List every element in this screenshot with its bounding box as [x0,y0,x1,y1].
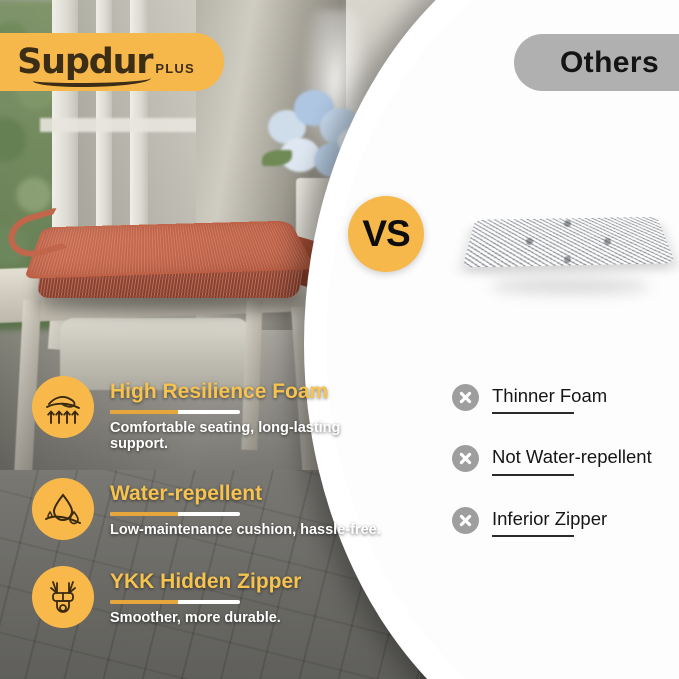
zipper-icon [32,566,94,628]
con-item-inferior-zipper: Inferior Zipper [452,507,676,537]
brand-wordmark: Supdur PLUS [17,45,195,80]
feature-item-high-resilience-foam: High Resilience Foam Comfortable seating… [32,376,382,452]
feature-title: Water-repellent [110,482,381,505]
brand-suffix: PLUS [155,61,194,80]
feature-item-ykk-hidden-zipper: YKK Hidden Zipper Smoother, more durable… [32,566,382,628]
feature-rule [110,600,240,604]
brand-swoosh-icon [33,72,151,87]
feature-item-water-repellent: Water-repellent Low-maintenance cushion,… [32,478,382,540]
vs-badge: VS [348,196,424,272]
vs-label: VS [362,213,409,255]
product-image-our-cushion [14,178,326,306]
feature-rule [110,410,240,414]
brand-badge: Supdur PLUS [0,33,224,91]
others-label: Others [560,46,659,80]
others-badge: Others [514,34,679,91]
con-rule [492,474,574,476]
competitor-drawback-list: Thinner Foam Not Water-repellent [452,384,676,568]
feature-rule [110,512,240,516]
con-title: Thinner Foam [492,385,607,406]
feature-subtitle: Smoother, more durable. [110,610,301,626]
con-title: Inferior Zipper [492,508,607,529]
feature-subtitle: Low-maintenance cushion, hassle-free. [110,522,381,538]
x-circle-icon [452,384,479,411]
con-title: Not Water-repellent [492,446,652,467]
feature-title: High Resilience Foam [110,380,382,403]
con-rule [492,412,574,414]
con-item-not-water-repellent: Not Water-repellent [452,445,676,475]
x-circle-icon [452,445,479,472]
feature-list: High Resilience Foam Comfortable seating… [32,376,382,654]
comparison-infographic: Supdur PLUS Others VS [0,0,679,679]
feature-title: YKK Hidden Zipper [110,570,301,593]
product-image-competitor-cushion [464,186,676,302]
high-resilience-foam-icon [32,376,94,438]
x-circle-icon [452,507,479,534]
water-droplet-icon [32,478,94,540]
con-rule [492,535,574,537]
feature-subtitle: Comfortable seating, long-lasting suppor… [110,420,382,452]
con-item-thinner-foam: Thinner Foam [452,384,676,414]
